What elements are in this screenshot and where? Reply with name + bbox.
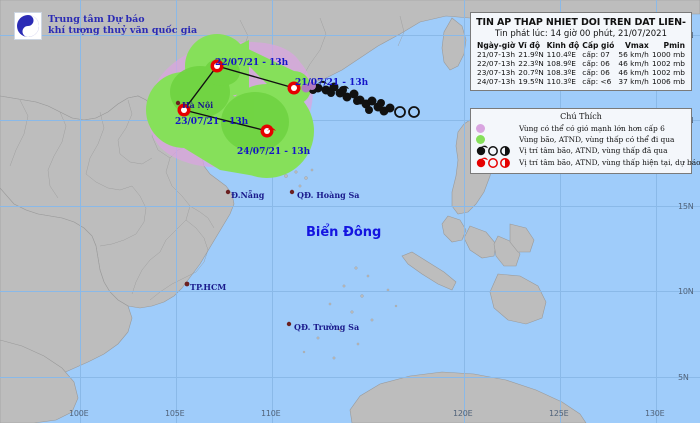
forecast-cell-cap: cấp: 06 [581, 59, 616, 68]
forecast-table-body: 21/07-13h21.9ºN110.4ºEcấp: 0756 km/h1000… [476, 50, 686, 86]
forecast-cell-pmin: 1000 mb [650, 50, 686, 59]
forecast-table-col-header: Cấp gió [581, 41, 616, 50]
legend-panel: Chú Thích Vùng có thể có gió mạnh lớn hơ… [470, 108, 692, 174]
legend-row: Vị trí tâm bão, ATND, vùng thấp hiện tại… [476, 157, 686, 168]
green-dot-icon [476, 135, 485, 144]
forecast-cell-pmin: 1002 mb [650, 59, 686, 68]
forecast-table-header: Ngày-giờVĩ độKinh độCấp gióVmaxPmin [476, 41, 686, 50]
forecast-table-row: 23/07-13h20.7ºN108.3ºEcấp: 0646 km/h1002… [476, 68, 686, 77]
forecast-table-col-header: Kinh độ [546, 41, 582, 50]
city-label: QĐ. Hoàng Sa [297, 190, 359, 200]
bulletin-info-panel: TIN AP THAP NHIET DOI TREN DAT LIEN- Tin… [470, 12, 692, 91]
forecast-cell-datetime: 23/07-13h [476, 68, 517, 77]
legend-violet-dot-icon [476, 124, 514, 133]
legend-item-label: Vùng có thể có gió mạnh lớn hơn cấp 6 [519, 124, 665, 133]
org-name-line2: khí tượng thuỷ văn quốc gia [48, 26, 197, 37]
forecast-cell-lon: 108.9ºE [546, 59, 582, 68]
past-low-marker [409, 107, 419, 117]
yin-yang-logo-icon [14, 12, 42, 40]
legend-item-label: Vùng bão, ATND, vùng thấp có thể đi qua [519, 135, 674, 144]
legend-title: Chú Thích [476, 112, 686, 121]
forecast-cell-cap: cấp: 06 [581, 68, 616, 77]
forecast-time-label: 24/07/21 - 13h [237, 147, 310, 157]
city-label: QĐ. Trường Sa [294, 322, 359, 332]
past-low-marker [395, 107, 405, 117]
forecast-table-col-header: Vĩ độ [517, 41, 545, 50]
forecast-table-row: 21/07-13h21.9ºN110.4ºEcấp: 0756 km/h1000… [476, 50, 686, 59]
forecast-cell-lat: 19.5ºN [517, 77, 545, 86]
legend-item-label: Vị trí tâm bão, ATND, vùng thấp đã qua [519, 146, 667, 155]
forecast-table-row: 24/07-13h19.5ºN110.3ºEcấp: <637 km/h1006… [476, 77, 686, 86]
forecast-cell-pmin: 1002 mb [650, 68, 686, 77]
forecast-cell-cap: cấp: 07 [581, 50, 616, 59]
legend-items: Vùng có thể có gió mạnh lớn hơn cấp 6Vùn… [476, 123, 686, 168]
storm-symbol-set-icon [476, 145, 514, 156]
violet-dot-icon [476, 124, 485, 133]
legend-item-label: Vị trí tâm bão, ATND, vùng thấp hiện tại… [519, 158, 700, 167]
city-label: Hà Nội [182, 100, 213, 110]
forecast-cell-lat: 21.9ºN [517, 50, 545, 59]
forecast-table-col-header: Pmin [650, 41, 686, 50]
forecast-cell-lat: 20.7ºN [517, 68, 545, 77]
forecast-cell-lat: 22.3ºN [517, 59, 545, 68]
org-header: Trung tâm Dự báo khí tượng thuỷ văn quốc… [14, 12, 197, 40]
forecast-cell-vmax: 46 km/h [616, 68, 649, 77]
forecast-table-col-header: Ngày-giờ [476, 41, 517, 50]
legend-row: Vùng có thể có gió mạnh lớn hơn cấp 6 [476, 123, 686, 133]
forecast-table: Ngày-giờVĩ độKinh độCấp gióVmaxPmin 21/0… [476, 41, 686, 86]
legend-row: Vùng bão, ATND, vùng thấp có thể đi qua [476, 134, 686, 144]
forecast-cell-lon: 110.4ºE [546, 50, 582, 59]
forecast-cell-vmax: 56 km/h [616, 50, 649, 59]
forecast-time-label: 22/07/21 - 13h [215, 58, 288, 68]
forecast-cell-pmin: 1006 mb [650, 77, 686, 86]
forecast-cell-datetime: 22/07-13h [476, 59, 517, 68]
forecast-time-label: 21/07/21 - 13h [295, 78, 368, 88]
legend-black-storm-symbols-icon [476, 145, 514, 156]
sea-label-bien-dong: Biển Đông [306, 225, 381, 240]
city-label: Đ.Nẵng [231, 190, 264, 200]
legend-red-storm-symbols-icon [476, 157, 514, 168]
city-label: TP.HCM [190, 282, 226, 292]
bulletin-issue-time: Tin phát lúc: 14 giờ 00 phút, 21/07/2021 [476, 29, 686, 39]
storm-symbol-set-icon [476, 157, 514, 168]
legend-row: Vị trí tâm bão, ATND, vùng thấp đã qua [476, 145, 686, 156]
legend-green-dot-icon [476, 135, 514, 144]
forecast-table-row: 22/07-13h22.3ºN108.9ºEcấp: 0646 km/h1002… [476, 59, 686, 68]
forecast-cell-datetime: 21/07-13h [476, 50, 517, 59]
forecast-cell-lon: 108.3ºE [546, 68, 582, 77]
forecast-cell-cap: cấp: <6 [581, 77, 616, 86]
forecast-time-label: 23/07/21 - 13h [175, 117, 248, 127]
bulletin-title: TIN AP THAP NHIET DOI TREN DAT LIEN- [476, 17, 686, 28]
weather-map-screenshot: 100E105E110E120E125E130E25N20N15N10N5N [0, 0, 700, 423]
forecast-cell-lon: 110.3ºE [546, 77, 582, 86]
forecast-cell-datetime: 24/07-13h [476, 77, 517, 86]
forecast-cell-vmax: 37 km/h [616, 77, 649, 86]
forecast-cell-vmax: 46 km/h [616, 59, 649, 68]
forecast-table-col-header: Vmax [616, 41, 649, 50]
